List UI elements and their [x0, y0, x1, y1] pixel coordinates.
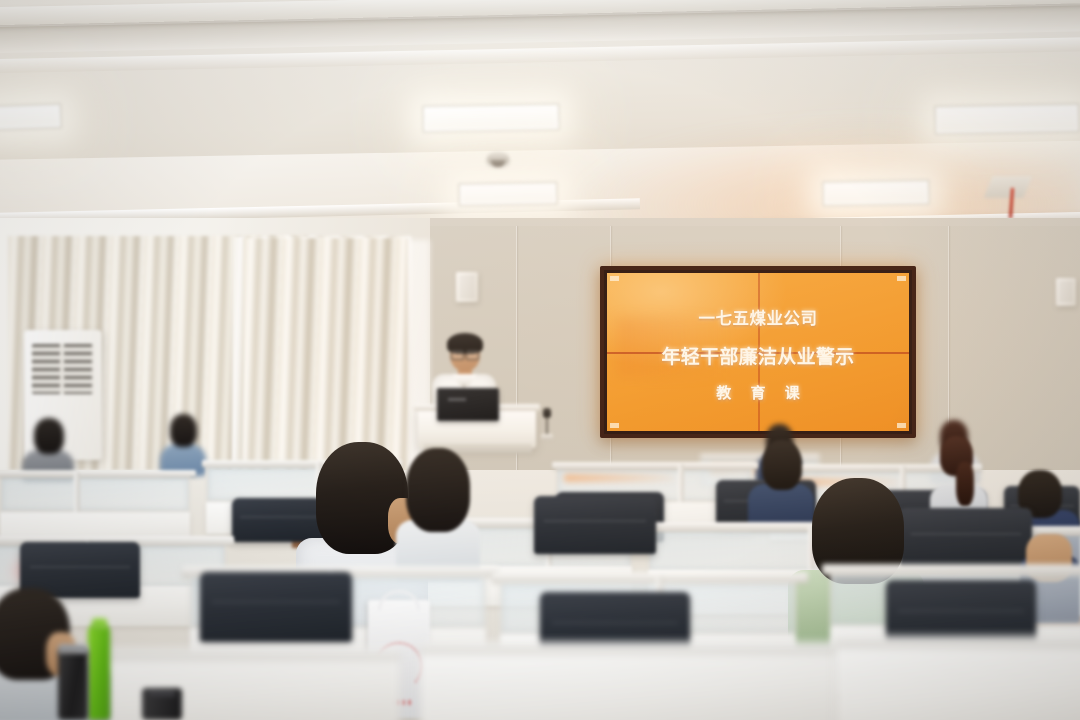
desk-cubicle [836, 636, 1080, 720]
attendee [160, 414, 206, 472]
sprinkler-head-icon [988, 176, 1028, 220]
ceiling-light-panel [934, 103, 1080, 136]
ceiling-light-panel [0, 103, 62, 132]
smoke-detector-icon [487, 152, 509, 165]
video-wall-display[interactable]: 一七五煤业公司 年轻干部廉洁从业警示 教 育 课 [600, 266, 916, 438]
cup [142, 688, 182, 720]
beverage-bottle [88, 625, 110, 720]
wall-speaker-icon [456, 272, 478, 302]
slide-line-company: 一七五煤业公司 [699, 305, 818, 329]
video-wall-screen: 一七五煤业公司 年轻干部廉洁从业警示 教 育 课 [607, 273, 909, 431]
lecture-hall-photo: 一七五煤业公司 年轻干部廉洁从业警示 教 育 课 [0, 0, 1080, 720]
attendee [396, 448, 480, 576]
desk-cubicle [420, 642, 840, 720]
eyeglasses-icon [451, 350, 479, 358]
thermos-lid [58, 644, 88, 654]
slide-text-block: 一七五煤业公司 年轻干部廉洁从业警示 教 育 课 [607, 273, 909, 431]
slide-line-topic: 年轻干部廉洁从业警示 [661, 342, 854, 369]
microphone-icon [543, 408, 551, 440]
office-chair [534, 496, 656, 554]
slide-line-subject: 教 育 课 [709, 382, 806, 403]
ceiling-light-panel [458, 181, 558, 207]
wall-speaker-icon [1056, 278, 1076, 306]
ceiling-light-panel [822, 179, 930, 207]
ceiling [0, 0, 1080, 250]
thermos-flask [58, 650, 88, 720]
ceiling-light-panel [422, 103, 560, 133]
bottle-cap [92, 618, 107, 630]
office-chair [200, 572, 352, 642]
laptop[interactable] [437, 388, 499, 421]
